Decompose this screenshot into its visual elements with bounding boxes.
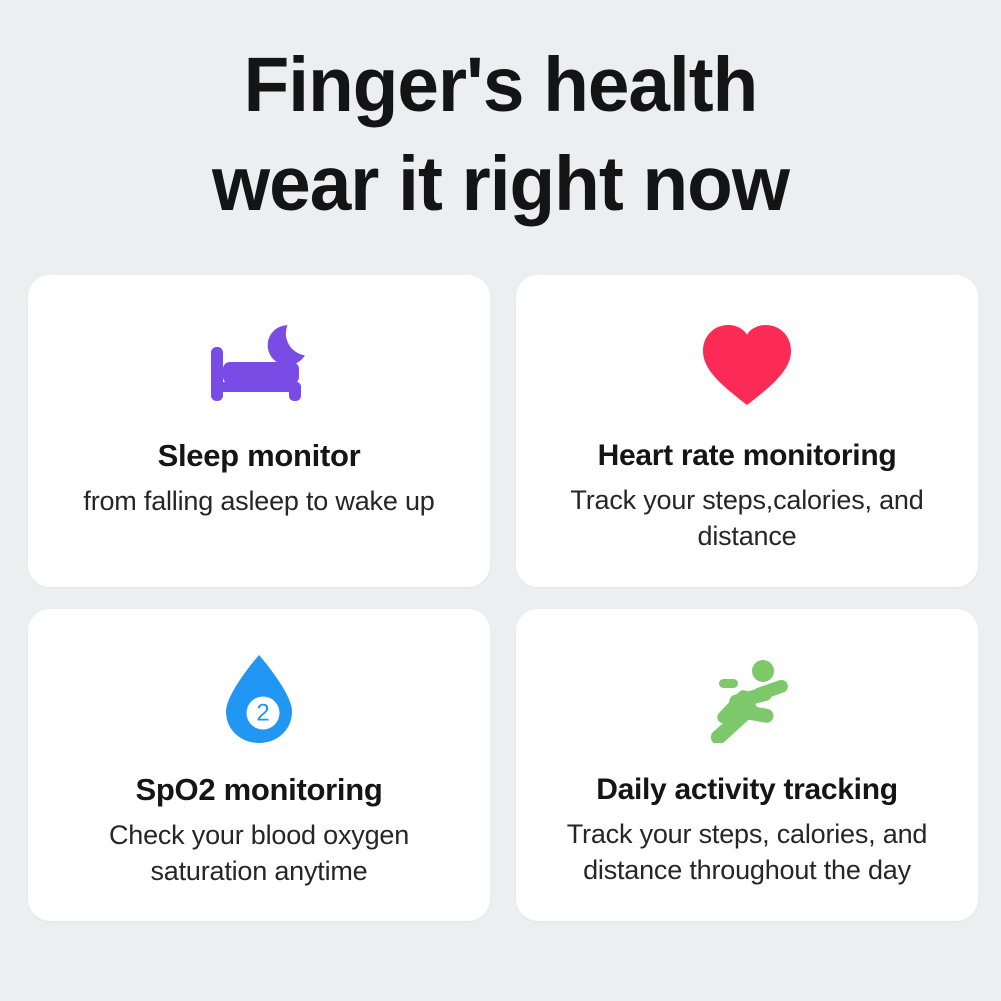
page-title-line-2: wear it right now [15,135,986,234]
feature-card-grid: Sleep monitor from falling asleep to wak… [28,275,978,921]
feature-card-subtitle: Check your blood oxygen saturation anyti… [49,818,469,889]
heart-icon [699,309,795,421]
feature-card-subtitle: Track your steps, calories, and distance… [537,817,957,888]
drop-badge-number: 2 [256,700,269,727]
feature-card-title: Sleep monitor [158,439,361,473]
feature-card-sleep-monitor[interactable]: Sleep monitor from falling asleep to wak… [28,275,490,587]
page-title-line-1: Finger's health [15,36,986,135]
page-title: Finger's health wear it right now [15,36,986,233]
feature-card-subtitle: from falling asleep to wake up [83,484,434,520]
feature-card-heart-rate-monitoring[interactable]: Heart rate monitoring Track your steps,c… [516,275,978,587]
feature-card-title: Heart rate monitoring [598,439,897,472]
feature-card-title: Daily activity tracking [596,773,898,806]
promo-feature-page: Finger's health wear it right now [0,0,1001,1001]
running-person-icon [697,643,797,755]
feature-card-title: SpO2 monitoring [136,773,383,807]
feature-card-daily-activity-tracking[interactable]: Daily activity tracking Track your steps… [516,609,978,921]
water-drop-o2-icon: 2 [217,643,301,755]
feature-card-subtitle: Track your steps,calories, and distance [537,483,957,554]
bed-moon-icon [203,309,315,421]
feature-card-spo2-monitoring[interactable]: 2 SpO2 monitoring Check your blood oxyge… [28,609,490,921]
